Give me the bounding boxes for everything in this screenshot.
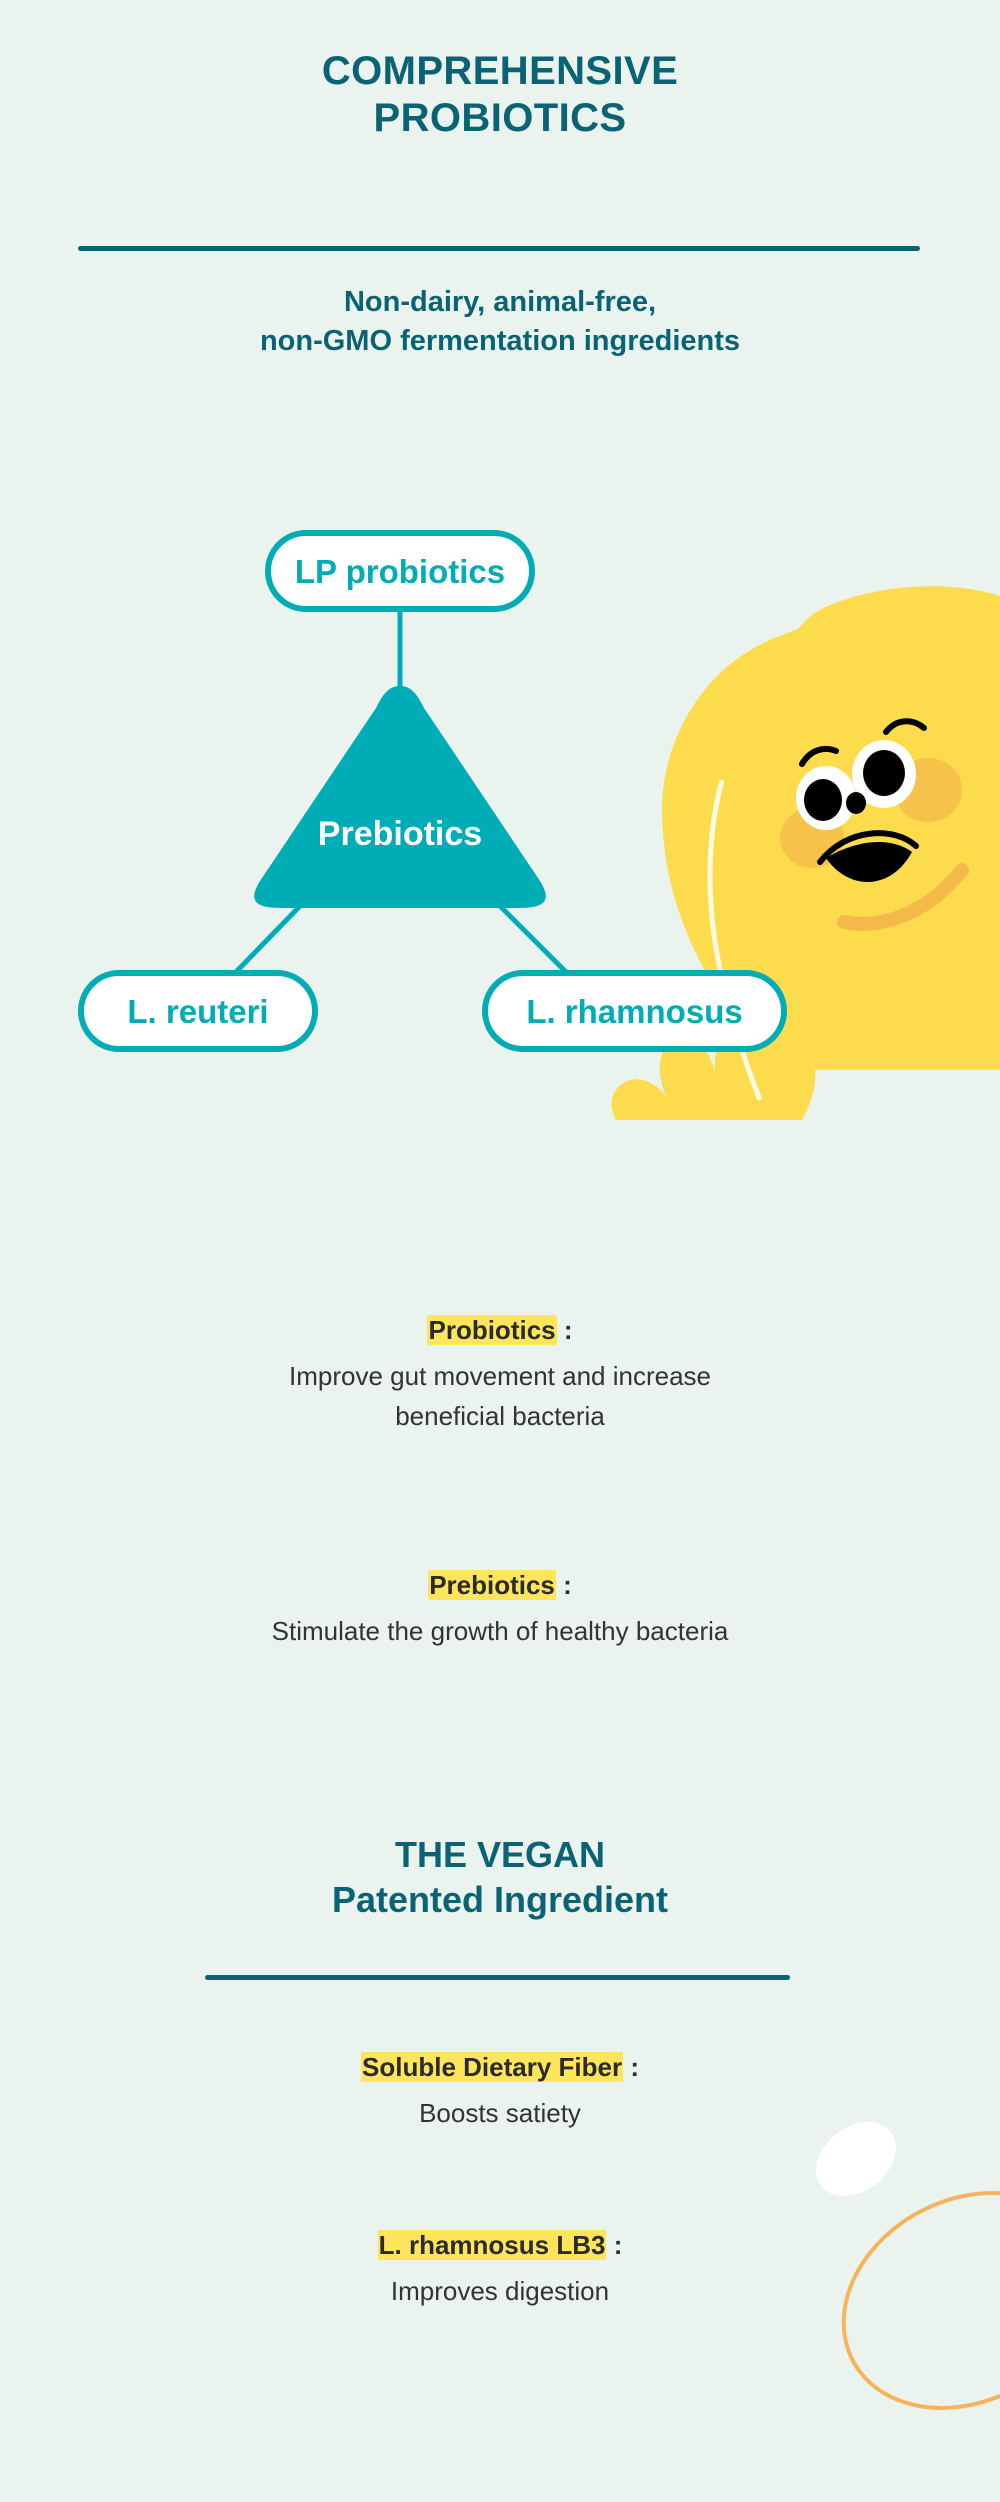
connector-right <box>500 906 566 972</box>
info-term-l-rhamnosus-lb3: L. rhamnosus LB3 : <box>0 2230 1000 2261</box>
info-block-soluble-dietary-fiber: Soluble Dietary Fiber : Boosts satiety <box>0 2052 1000 2133</box>
info-desc-prebiotics-line-1: Stimulate the growth of healthy bacteria <box>0 1611 1000 1651</box>
infographic-page: COMPREHENSIVE PROBIOTICS Non-dairy, anim… <box>0 0 1000 2502</box>
prebiotics-triangle <box>254 686 546 908</box>
info-term-l-rhamnosus-lb3-colon: : <box>606 2230 622 2260</box>
node-l-rhamnosus[interactable]: L. rhamnosus <box>482 970 787 1052</box>
info-term-l-rhamnosus-lb3-highlight: L. rhamnosus LB3 <box>378 2230 607 2260</box>
page-title: COMPREHENSIVE PROBIOTICS <box>0 48 1000 142</box>
vegan-section-title-line-1: THE VEGAN <box>0 1832 1000 1877</box>
info-block-prebiotics: Prebiotics : Stimulate the growth of hea… <box>0 1570 1000 1651</box>
info-term-prebiotics-colon: : <box>556 1570 572 1600</box>
connector-left <box>236 906 300 972</box>
info-desc-soluble-dietary-fiber-line-1: Boosts satiety <box>0 2093 1000 2133</box>
node-lp-probiotics[interactable]: LP probiotics <box>265 530 535 612</box>
info-desc-soluble-dietary-fiber: Boosts satiety <box>0 2093 1000 2133</box>
info-term-soluble-dietary-fiber: Soluble Dietary Fiber : <box>0 2052 1000 2083</box>
page-subtitle: Non-dairy, animal-free, non-GMO fermenta… <box>0 283 1000 360</box>
page-title-line-1: COMPREHENSIVE <box>0 48 1000 95</box>
info-term-prebiotics: Prebiotics : <box>0 1570 1000 1601</box>
info-desc-probiotics-line-1: Improve gut movement and increase <box>0 1356 1000 1396</box>
info-block-l-rhamnosus-lb3: L. rhamnosus LB3 : Improves digestion <box>0 2230 1000 2311</box>
info-desc-probiotics-line-2: beneficial bacteria <box>0 1396 1000 1436</box>
info-desc-prebiotics: Stimulate the growth of healthy bacteria <box>0 1611 1000 1651</box>
vegan-section-title-line-2: Patented Ingredient <box>0 1877 1000 1922</box>
info-term-probiotics-highlight: Probiotics <box>427 1315 556 1345</box>
node-l-rhamnosus-label: L. rhamnosus <box>526 995 742 1028</box>
info-term-probiotics-colon: : <box>557 1315 573 1345</box>
info-term-soluble-dietary-fiber-colon: : <box>623 2052 639 2082</box>
page-subtitle-line-1: Non-dairy, animal-free, <box>0 283 1000 322</box>
info-term-soluble-dietary-fiber-highlight: Soluble Dietary Fiber <box>361 2052 623 2082</box>
vegan-section-divider <box>205 1975 790 1980</box>
title-divider <box>78 246 920 251</box>
probiotics-diagram: LP probiotics Prebiotics L. reuteri L. r… <box>0 510 1000 1120</box>
page-title-line-2: PROBIOTICS <box>0 95 1000 142</box>
vegan-section-title: THE VEGAN Patented Ingredient <box>0 1832 1000 1923</box>
info-desc-probiotics: Improve gut movement and increase benefi… <box>0 1356 1000 1437</box>
info-term-probiotics: Probiotics : <box>0 1315 1000 1346</box>
node-prebiotics-label: Prebiotics <box>255 815 545 854</box>
info-desc-l-rhamnosus-lb3: Improves digestion <box>0 2271 1000 2311</box>
info-block-probiotics: Probiotics : Improve gut movement and in… <box>0 1315 1000 1437</box>
info-desc-l-rhamnosus-lb3-line-1: Improves digestion <box>0 2271 1000 2311</box>
node-l-reuteri-label: L. reuteri <box>127 995 268 1028</box>
info-term-prebiotics-highlight: Prebiotics <box>428 1570 556 1600</box>
node-lp-probiotics-label: LP probiotics <box>295 555 505 588</box>
node-l-reuteri[interactable]: L. reuteri <box>78 970 318 1052</box>
page-subtitle-line-2: non-GMO fermentation ingredients <box>0 322 1000 361</box>
